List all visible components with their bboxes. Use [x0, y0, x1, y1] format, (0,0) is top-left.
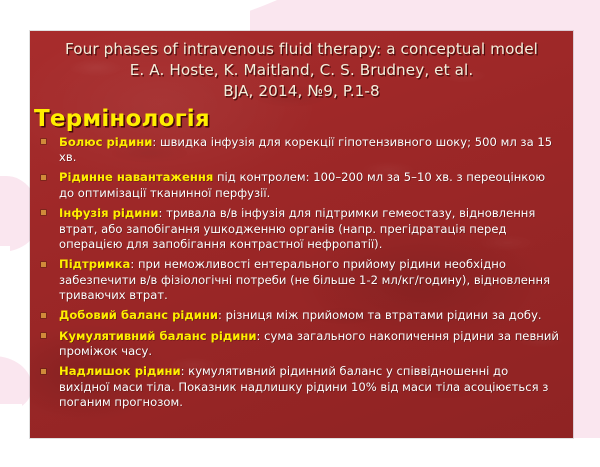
term-label: Добовий баланс рідини	[59, 308, 218, 322]
list-item: Інфузія рідини: тривала в/в інфузія для …	[39, 206, 561, 253]
terminology-bullet-list: Болюс рідини: швидка інфузія для корекці…	[30, 135, 573, 411]
decor-white-left-shape-b	[0, 246, 10, 364]
square-bullet-icon	[41, 313, 46, 318]
term-label: Підтримка	[59, 257, 130, 271]
term-label: Надлишок рідини	[59, 364, 181, 378]
term-label: Інфузія рідини	[59, 206, 158, 220]
square-bullet-icon	[41, 333, 46, 338]
list-item: Кумулятивний баланс рідини: сума загальн…	[39, 329, 561, 360]
list-item: Болюс рідини: швидка інфузія для корекці…	[39, 135, 561, 166]
article-authors-line: E. A. Hoste, K. Maitland, C. S. Brudney,…	[44, 60, 559, 81]
square-bullet-icon	[41, 175, 46, 180]
decor-pink-left-shape-c	[0, 356, 32, 410]
square-bullet-icon	[41, 139, 46, 144]
decor-pink-right-band	[570, 0, 600, 440]
article-title-block: Four phases of intravenous fluid therapy…	[30, 31, 573, 102]
decor-white-left-shape-d	[0, 404, 22, 424]
list-item: Добовий баланс рідини: різниця між прийо…	[39, 308, 561, 324]
section-heading: Термінологія	[34, 107, 573, 133]
decor-white-bottom-band	[0, 438, 600, 467]
article-citation-line: BJA, 2014, №9, P.1-8	[44, 81, 559, 102]
term-label: Болюс рідини	[59, 135, 152, 149]
term-label: Рідинне навантаження	[59, 170, 213, 184]
list-item: Рідинне навантаження під контролем: 100–…	[39, 170, 561, 201]
list-item: Підтримка: при неможливості ентерального…	[39, 257, 561, 304]
term-label: Кумулятивний баланс рідини	[59, 329, 257, 343]
square-bullet-icon	[41, 210, 46, 215]
square-bullet-icon	[41, 262, 46, 267]
slide-content-panel: Four phases of intravenous fluid therapy…	[30, 31, 573, 438]
presentation-slide: Four phases of intravenous fluid therapy…	[0, 0, 600, 467]
article-title-line-1: Four phases of intravenous fluid therapy…	[44, 39, 559, 60]
list-item: Надлишок рідини: кумулятивний рідинний б…	[39, 364, 561, 411]
term-definition: : при неможливості ентерального прийому …	[59, 257, 550, 302]
square-bullet-icon	[41, 369, 46, 374]
term-definition: : різниця між прийомом та втратами рідин…	[218, 308, 542, 322]
